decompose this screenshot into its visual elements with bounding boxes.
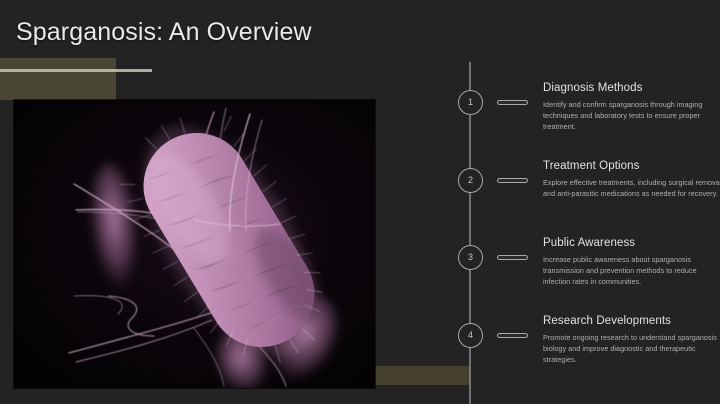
- timeline-connector-3: [497, 255, 528, 260]
- slide-canvas: Sparganosis: An Overview: [0, 0, 720, 404]
- timeline-body-4: Promote ongoing research to understand s…: [543, 332, 720, 365]
- decorative-olive-bar-top: [0, 58, 116, 100]
- timeline-heading-2: Treatment Options: [543, 160, 640, 172]
- timeline-marker-3-number: 3: [468, 253, 473, 262]
- timeline-body-3: Increase public awareness about spargano…: [543, 254, 720, 287]
- timeline-connector-2: [497, 178, 528, 183]
- timeline-marker-4-number: 4: [468, 331, 473, 340]
- page-title: Sparganosis: An Overview: [16, 18, 312, 47]
- timeline-marker-1[interactable]: 1: [458, 90, 483, 115]
- timeline-heading-4: Research Developments: [543, 315, 671, 327]
- micrograph-illustration: [14, 100, 375, 388]
- timeline-marker-2-number: 2: [468, 176, 473, 185]
- timeline-marker-1-number: 1: [468, 98, 473, 107]
- bacteria-micrograph-image: [14, 100, 375, 388]
- timeline-marker-2[interactable]: 2: [458, 168, 483, 193]
- timeline-heading-3: Public Awareness: [543, 237, 635, 249]
- decorative-accent-line: [0, 69, 152, 72]
- timeline-body-1: Identify and confirm sparganosis through…: [543, 99, 720, 132]
- timeline-marker-3[interactable]: 3: [458, 245, 483, 270]
- timeline-connector-4: [497, 333, 528, 338]
- timeline-connector-1: [497, 100, 528, 105]
- timeline-body-2: Explore effective treatments, including …: [543, 177, 720, 199]
- timeline-heading-1: Diagnosis Methods: [543, 82, 643, 94]
- timeline-marker-4[interactable]: 4: [458, 323, 483, 348]
